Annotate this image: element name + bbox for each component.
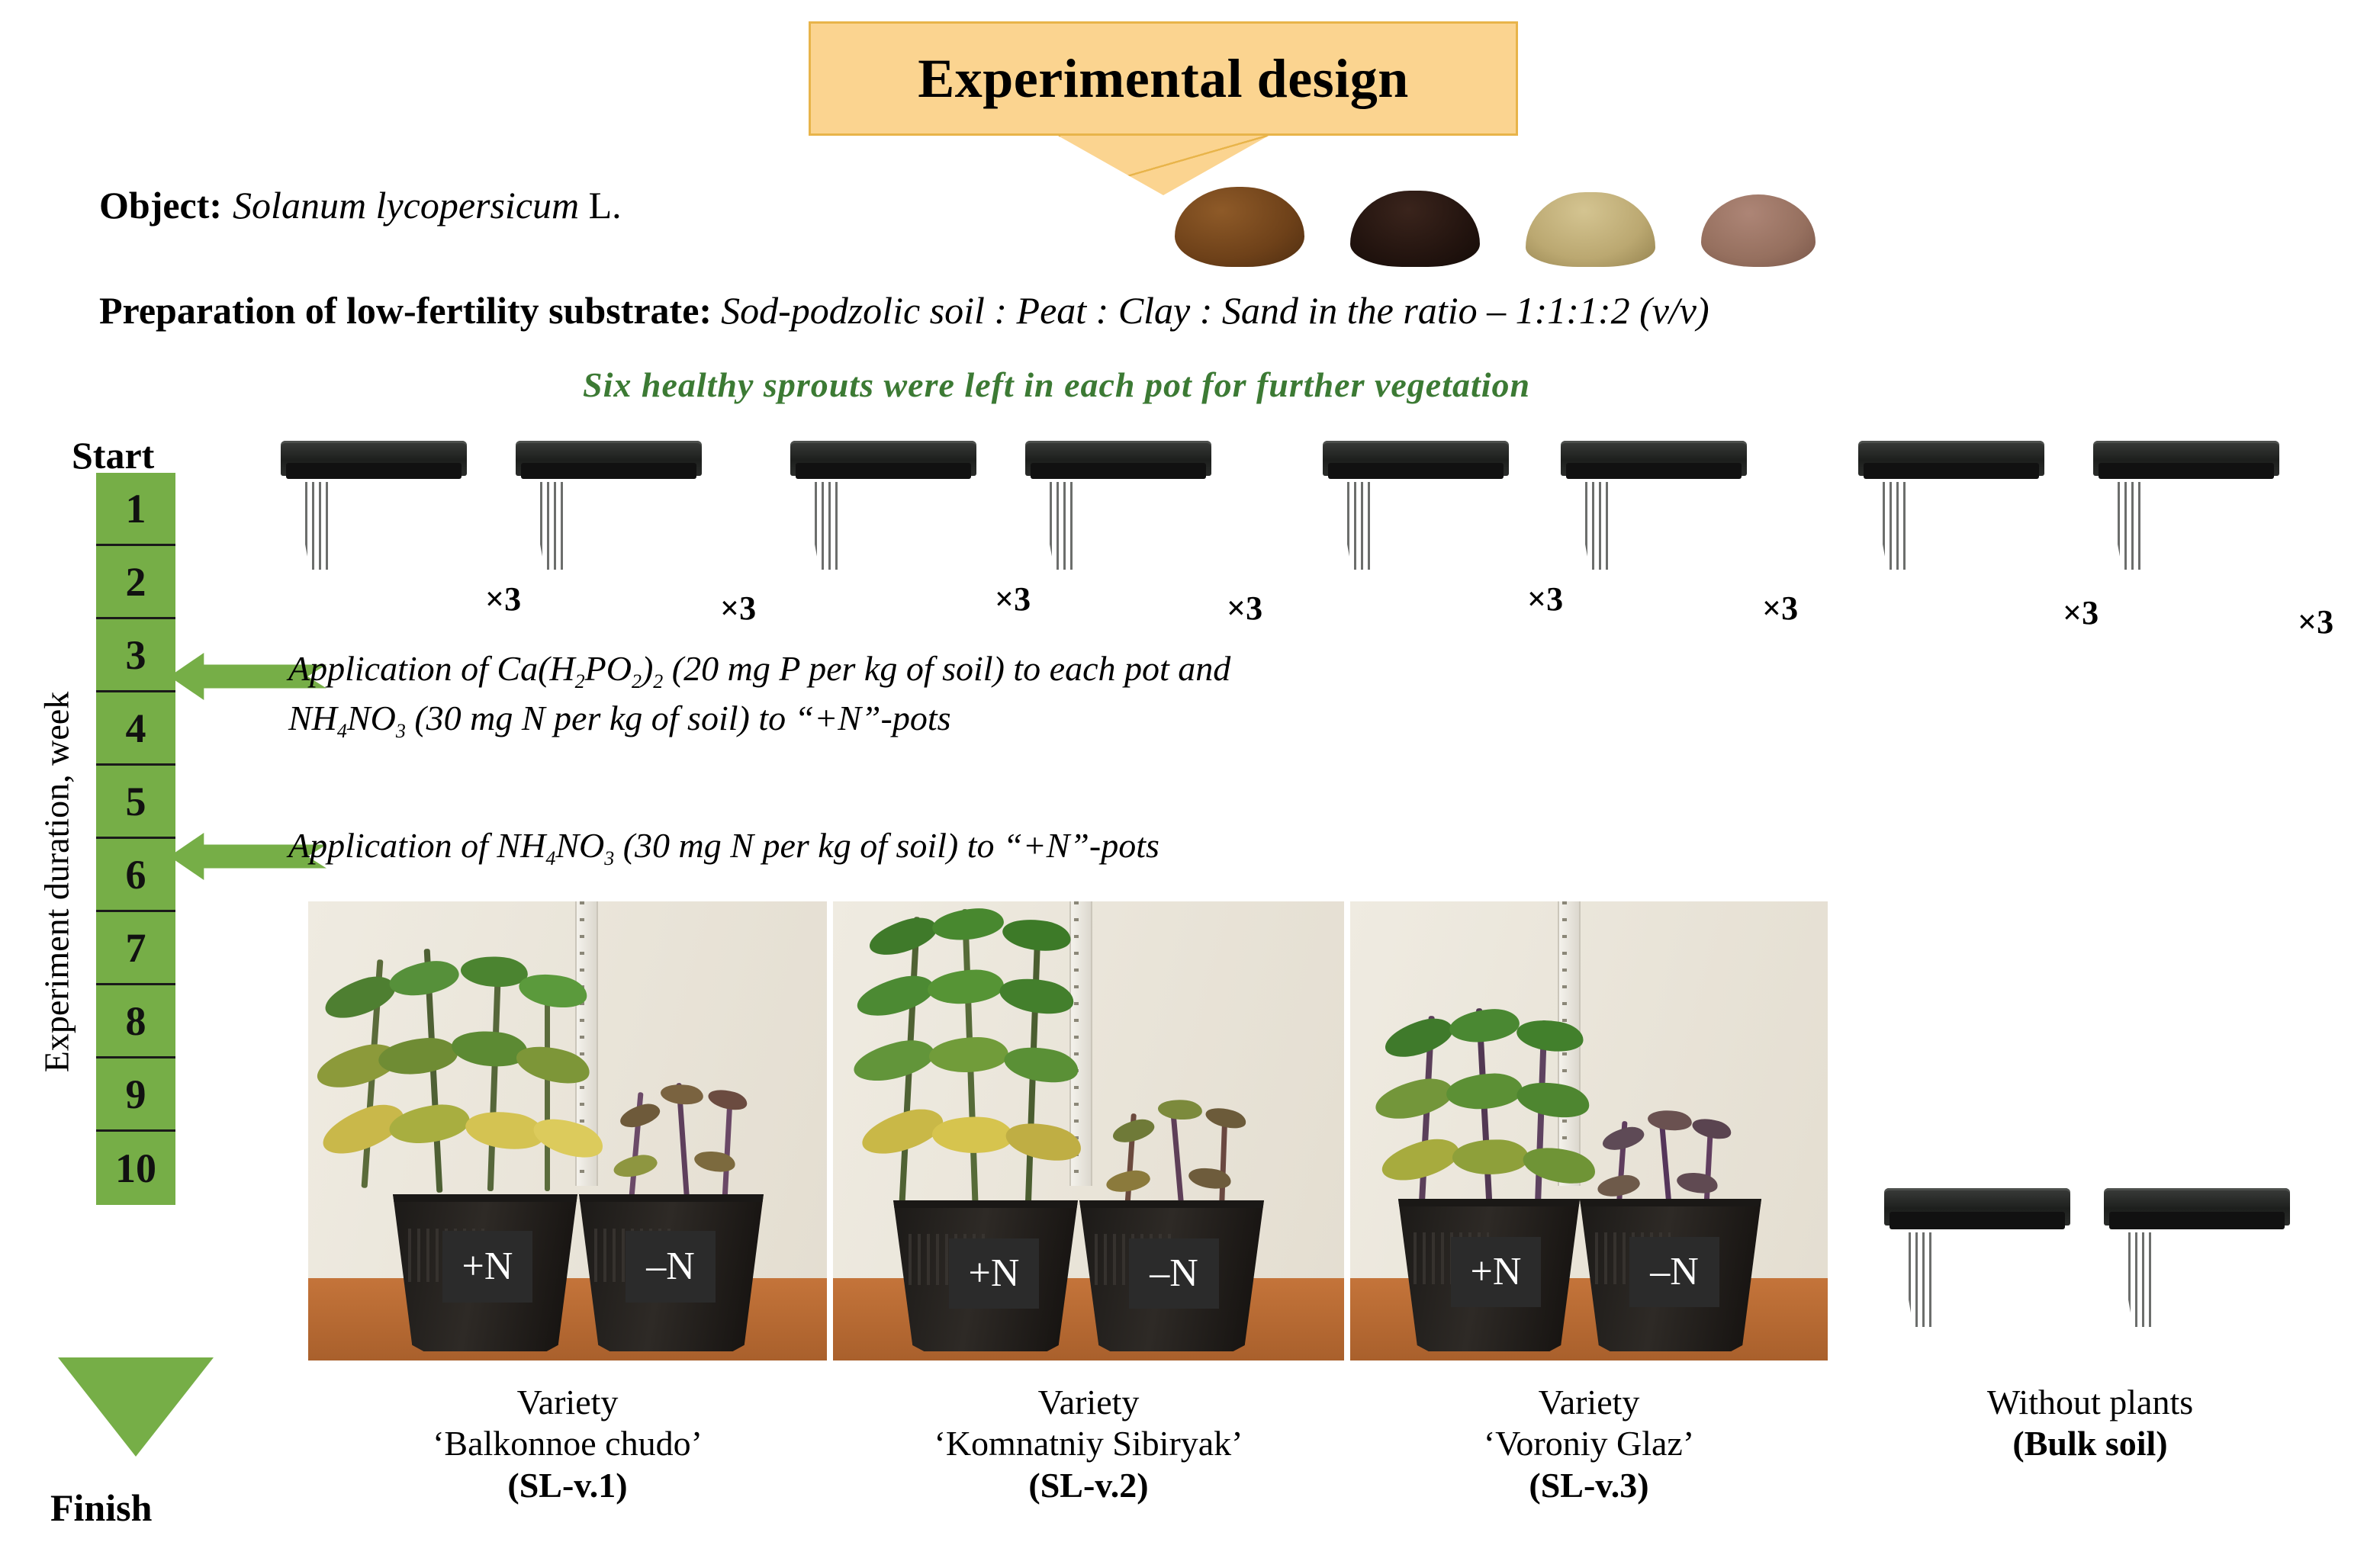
photo-variety-3: +N –N bbox=[1350, 901, 1828, 1360]
pot-replicate-count: ×3 bbox=[1762, 589, 1798, 628]
bulk-soil-pot: +N bbox=[1884, 1188, 2070, 1359]
seedling-pot: –N bbox=[1561, 441, 1747, 599]
caption-bulk-soil: Without plants (Bulk soil) bbox=[1854, 1382, 2327, 1465]
plant-foliage-plus bbox=[853, 909, 1112, 1222]
pot-replicate-count: ×3 bbox=[1527, 580, 1563, 618]
application-week-4-5: Application of NH4NO3 (30 mg N per kg of… bbox=[288, 822, 1159, 872]
photo-variety-2: +N –N bbox=[833, 901, 1344, 1360]
pot-replicate-count: ×3 bbox=[1227, 589, 1262, 628]
caption-line-1: Without plants bbox=[1854, 1382, 2327, 1423]
timeline-week-cell: 9 bbox=[96, 1059, 175, 1132]
caption-variety-3: Variety ‘Voroniy Glaz’ (SL-v.3) bbox=[1350, 1382, 1828, 1506]
pot-label: +N bbox=[281, 511, 467, 549]
caption-line-1: Variety bbox=[1350, 1382, 1828, 1423]
photo-pot-label-plus: +N bbox=[1451, 1237, 1541, 1307]
caption-variety-2: Variety ‘Komnatniy Sibiryak’ (SL-v.2) bbox=[825, 1382, 1352, 1506]
photo-pot-label-minus: –N bbox=[1129, 1238, 1219, 1309]
seedling-pot: +N bbox=[790, 441, 976, 599]
timeline-finish-label: Finish bbox=[50, 1486, 152, 1530]
pot-replicate-count: ×3 bbox=[2298, 602, 2333, 641]
pot-label: –N bbox=[516, 511, 702, 549]
timeline-week-cell: 6 bbox=[96, 839, 175, 912]
caption-line-2: ‘Komnatniy Sibiryak’ bbox=[825, 1423, 1352, 1464]
photo-pot-label-minus: –N bbox=[626, 1231, 716, 1303]
caption-line-2: ‘Balkonnoe chudo’ bbox=[308, 1423, 827, 1464]
application-line-2: NH4NO3 (30 mg N per kg of soil) to “+N”-… bbox=[288, 695, 1230, 744]
photo-pot-label-plus: +N bbox=[949, 1238, 1039, 1309]
plant-foliage-minus bbox=[610, 1078, 777, 1213]
timeline-week-cell: 7 bbox=[96, 912, 175, 985]
caption-line-3: (SL-v.2) bbox=[825, 1465, 1352, 1506]
caption-line-1: Variety bbox=[825, 1382, 1352, 1423]
pot-label: +N bbox=[1323, 511, 1509, 549]
application-week-2-3: Application of Ca(H2PO2)2 (20 mg P per k… bbox=[288, 645, 1230, 745]
pot-label: –N bbox=[1025, 511, 1211, 549]
caption-line-2: (Bulk soil) bbox=[1854, 1423, 2327, 1464]
caption-line-2: ‘Voroniy Glaz’ bbox=[1350, 1423, 1828, 1464]
timeline-week-cell: 8 bbox=[96, 985, 175, 1059]
pot-label: –N bbox=[1561, 511, 1747, 549]
caption-line-3: (SL-v.1) bbox=[308, 1465, 827, 1506]
photo-pot-label-plus: +N bbox=[442, 1231, 532, 1303]
seedling-pot: –N bbox=[1025, 441, 1211, 599]
timeline-week-cell: 10 bbox=[96, 1132, 175, 1205]
bulk-soil-pot: –N bbox=[2104, 1188, 2290, 1359]
seedling-pot-row: +N ×3 –N ×3 +N ×3 bbox=[0, 0, 2380, 656]
photo-pot-label-minus: –N bbox=[1629, 1237, 1719, 1307]
timeline-week-cell: 5 bbox=[96, 766, 175, 839]
seedling-pot: +N bbox=[281, 441, 467, 599]
pot-label: +N bbox=[1884, 1267, 2070, 1305]
seedling-pot: –N bbox=[516, 441, 702, 599]
pot-label: –N bbox=[2093, 511, 2279, 549]
timeline-arrowhead-icon bbox=[58, 1357, 214, 1457]
caption-line-3: (SL-v.3) bbox=[1350, 1465, 1828, 1506]
pot-replicate-count: ×3 bbox=[720, 589, 756, 628]
application-line-1: Application of NH4NO3 (30 mg N per kg of… bbox=[288, 822, 1159, 872]
pot-label: –N bbox=[2104, 1267, 2290, 1305]
pot-label: +N bbox=[1858, 511, 2044, 549]
seedling-pot: +N bbox=[1323, 441, 1509, 599]
bulk-pot-top: +N bbox=[1858, 441, 2044, 599]
timeline-week-cell: 4 bbox=[96, 692, 175, 766]
caption-variety-1: Variety ‘Balkonnoe chudo’ (SL-v.1) bbox=[308, 1382, 827, 1506]
timeline-axis-label: Experiment duration, week bbox=[37, 646, 77, 1119]
plant-foliage-plus bbox=[316, 949, 613, 1193]
bulk-pot-top: –N bbox=[2093, 441, 2279, 599]
caption-line-1: Variety bbox=[308, 1382, 827, 1423]
plant-foliage-plus bbox=[1373, 1008, 1617, 1222]
photo-variety-1: +N –N bbox=[308, 901, 827, 1360]
pot-label: +N bbox=[790, 511, 976, 549]
